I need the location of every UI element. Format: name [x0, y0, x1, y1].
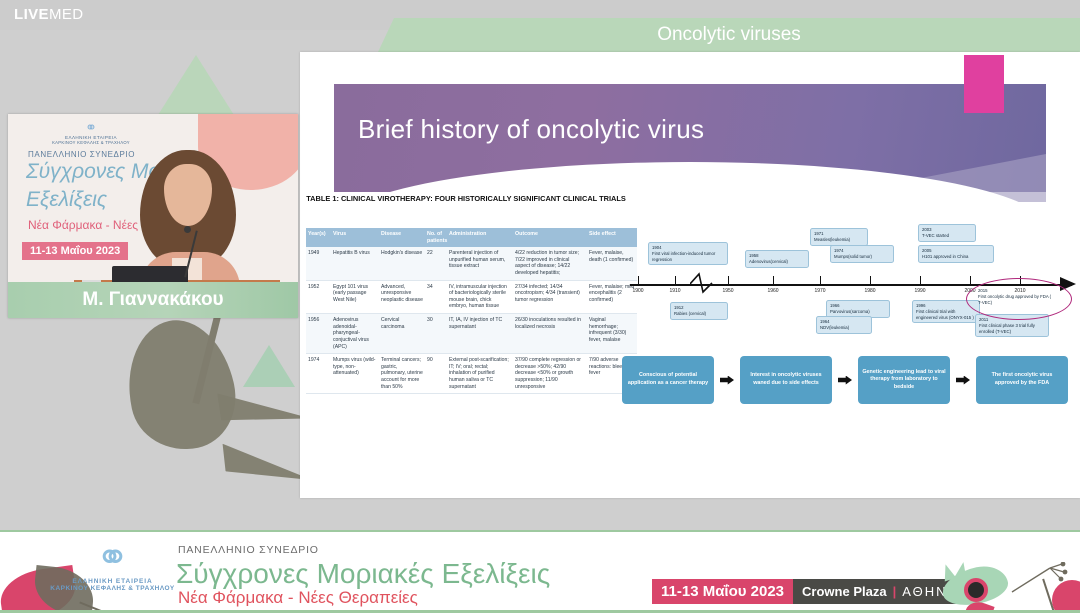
footer-society-line-1: ΕΛΛΗΝΙΚΗ ΕΤΑΙΡΕΙΑ [40, 578, 185, 585]
cell-year: 1974 [306, 354, 331, 394]
event-text: NDV(leukemia) [820, 325, 849, 330]
col-disease: Disease [379, 228, 425, 247]
society-line-2: ΚΑΡΚΙΝΟΥ ΚΕΦΑΛΗΣ & ΤΡΑΧΗΛΟΥ [36, 140, 146, 145]
axis-tick-label: 1950 [722, 288, 733, 294]
axis-tick [675, 276, 676, 285]
conference-footer-banner: ⚭ ΕΛΛΗΝΙΚΗ ΕΤΑΙΡΕΙΑ ΚΑΡΚΙΝΟΥ ΚΕΦΑΛΗΣ & Τ… [0, 530, 1080, 613]
timeline-event-2003: 2003 T-VEC started [918, 224, 976, 242]
cell-disease: Advanced, unresponsive neoplastic diseas… [379, 280, 425, 313]
table-caption: TABLE 1: CLINICAL VIROTHERAPY: FOUR HIST… [306, 194, 626, 205]
flow-arrow-right-icon [950, 376, 976, 385]
cell-administration: External post-scarification; IT; IV; ora… [447, 354, 513, 394]
footer-society-logo: ⚭ ΕΛΛΗΝΙΚΗ ΕΤΑΙΡΕΙΑ ΚΑΡΚΙΝΟΥ ΚΕΦΑΛΗΣ & Τ… [40, 540, 185, 592]
timeline-event-1958: 1958 Adenovirus(cervical) [745, 250, 809, 268]
footer-venue: Crowne Plaza [802, 584, 887, 599]
table-row: 1949 Hepatitis B virus Hodgkin's disease… [306, 247, 637, 280]
slide-viewer[interactable]: Brief history of oncolytic virus TABLE 1… [300, 52, 1080, 498]
table-row: 1974 Mumps virus (wild-type, non-attenua… [306, 354, 637, 394]
flow-step-4: The first oncolytic virus approved by th… [976, 356, 1068, 404]
cell-virus: Hepatitis B virus [331, 247, 379, 280]
backdrop-kicker: ΠΑΝΕΛΛΗΝΙΟ ΣΥΝΕΔΡΙΟ [28, 150, 135, 159]
session-title: Oncolytic viruses [657, 24, 801, 46]
timeline-event-1974: 1974 Mumps(solid tumor) [830, 245, 894, 263]
flow-arrow-right-icon [714, 376, 740, 385]
col-patients: No. of patients [425, 228, 447, 247]
axis-tick-label: 1910 [669, 288, 680, 294]
cell-patients: 22 [425, 247, 447, 280]
footer-venue-block: Crowne Plaza | ΑΘΗΝΑ [793, 579, 967, 604]
footer-date: 11-13 Μαΐου 2023 [652, 579, 793, 604]
society-mark-icon: ⚭ [40, 540, 185, 577]
cell-virus: Egypt 101 virus (early passage West Nile… [331, 280, 379, 313]
axis-tick-label: 1980 [864, 288, 875, 294]
decor-banner-swoosh [796, 154, 1046, 202]
footer-society-line-2: ΚΑΡΚΙΝΟΥ ΚΕΦΑΛΗΣ & ΤΡΑΧΗΛΟΥ [40, 585, 185, 592]
axis-tick [920, 276, 921, 285]
cell-virus: Adenovirus adenoidal-pharyngeal-conjucti… [331, 314, 379, 354]
cell-virus: Mumps virus (wild-type, non-attenuated) [331, 354, 379, 394]
table-header-row: Year(s) Virus Disease No. of patients Ad… [306, 228, 637, 247]
event-text: Adenovirus(cervical) [749, 259, 788, 264]
cell-disease: Terminal cancers; gastric, pulmonary, ut… [379, 354, 425, 394]
highlight-ellipse [966, 278, 1072, 320]
flow-step-3: Genetic engineering lead to viral therap… [858, 356, 950, 404]
backdrop-title-line-2: Εξελίξεις [26, 188, 107, 212]
timeline-event-1964: 1964 NDV(leukemia) [816, 316, 872, 334]
event-text: First clinical trial with engineered vir… [916, 309, 974, 320]
axis-tick [638, 276, 639, 285]
cell-year: 1949 [306, 247, 331, 280]
event-text: First clinical phase 3 trial fully enrol… [979, 323, 1035, 334]
cell-outcome: 4/22 reduction in tumor size; 7/22 impro… [513, 247, 587, 280]
timeline-event-2005: 2005 H101 approved in China [918, 245, 994, 263]
oncolytic-history-flow: Conscious of potential application as a … [622, 352, 1074, 408]
decor-leaf-accent [243, 345, 295, 387]
decor-leaf-blob [116, 311, 246, 460]
timeline-event-1971: 1971 Measles(leukemia) [810, 228, 868, 246]
cell-patients: 34 [425, 280, 447, 313]
session-title-band: Oncolytic viruses [378, 18, 1080, 52]
decor-magenta-rectangle [964, 55, 1004, 113]
flow-step-2: Interest in oncolytic viruses waned due … [740, 356, 832, 404]
footer-subtitle: Νέα Φάρμακα - Νέες Θεραπείες [178, 588, 418, 608]
logo-light-text: MED [49, 6, 84, 23]
axis-tick [728, 276, 729, 285]
timeline-event-1966: 1966 Parvovirus(sarcoma) [826, 300, 890, 318]
event-text: Mumps(solid tumor) [834, 254, 872, 259]
virotherapy-table: Year(s) Virus Disease No. of patients Ad… [306, 228, 637, 394]
axis-break-icon [690, 272, 714, 294]
event-text: H101 approved in China [922, 254, 968, 259]
axis-tick-label: 1900 [632, 288, 643, 294]
footer-title: Σύγχρονες Μοριακές Εξελίξεις [176, 558, 550, 590]
footer-date-venue: 11-13 Μαΐου 2023 Crowne Plaza | ΑΘΗΝΑ [652, 579, 967, 604]
cell-administration: IT, IA, IV injection of TC supernatant [447, 314, 513, 354]
table-body: 1949 Hepatitis B virus Hodgkin's disease… [306, 247, 637, 393]
axis-tick [970, 276, 971, 285]
cell-disease: Hodgkin's disease [379, 247, 425, 280]
event-text: Measles(leukemia) [814, 237, 850, 242]
flow-arrow-right-icon [832, 376, 858, 385]
cell-administration: Parenteral injection of unpurified human… [447, 247, 513, 280]
society-mark-icon: ⚭ [36, 120, 146, 134]
backdrop-society-logo: ⚭ ΕΛΛΗΝΙΚΗ ΕΤΑΙΡΕΙΑ ΚΑΡΚΙΝΟΥ ΚΕΦΑΛΗΣ & Τ… [36, 120, 146, 145]
decor-leaf-spike-1 [214, 393, 313, 432]
event-text: Rabies (cervical) [674, 311, 706, 316]
timeline-event-1904: 1904 First viral infection-induced tumor… [648, 242, 728, 265]
axis-tick-label: 1960 [767, 288, 778, 294]
cell-outcome: 37/90 complete regression or decrease >5… [513, 354, 587, 394]
cell-year: 1952 [306, 280, 331, 313]
cell-administration: IV, intramuscular injection of bacteriol… [447, 280, 513, 313]
microphone-icon [184, 226, 191, 233]
table-row: 1956 Adenovirus adenoidal-pharyngeal-con… [306, 314, 637, 354]
cell-patients: 90 [425, 354, 447, 394]
axis-tick-label: 1970 [814, 288, 825, 294]
footer-separator: | [893, 584, 897, 599]
axis-tick [820, 276, 821, 285]
footer-kicker: ΠΑΝΕΛΛΗΝΙΟ ΣΥΝΕΔΡΙΟ [178, 544, 319, 556]
cell-outcome: 27/34 infected; 14/34 oncotropism; 4/34 … [513, 280, 587, 313]
cell-patients: 30 [425, 314, 447, 354]
table-head: Year(s) Virus Disease No. of patients Ad… [306, 228, 637, 247]
event-text: Parvovirus(sarcoma) [830, 309, 870, 314]
cell-disease: Cervical carcinoma [379, 314, 425, 354]
decor-footer-whiskers [1010, 562, 1070, 602]
event-text: First viral infection-induced tumor regr… [652, 251, 715, 262]
flow-step-1: Conscious of potential application as a … [622, 356, 714, 404]
oncolytic-virus-timeline: 1900 1910 1950 1960 1970 1980 1990 2000 … [630, 220, 1072, 340]
axis-tick [773, 276, 774, 285]
col-virus: Virus [331, 228, 379, 247]
slide-title: Brief history of oncolytic virus [358, 114, 998, 145]
event-text: T-VEC started [922, 233, 949, 238]
timeline-event-1912: 1912 Rabies (cervical) [670, 302, 728, 320]
livemed-logo[interactable]: LIVEMED [14, 6, 84, 23]
cell-year: 1956 [306, 314, 331, 354]
axis-tick [870, 276, 871, 285]
axis-tick-label: 1990 [914, 288, 925, 294]
col-year: Year(s) [306, 228, 331, 247]
speaker-name-banner: Μ. Γιαννακάκου [8, 282, 298, 318]
col-administration: Administration [447, 228, 513, 247]
col-outcome: Outcome [513, 228, 587, 247]
backdrop-date: 11-13 Μαΐου 2023 [22, 242, 128, 260]
decor-footer-cat-eye [964, 578, 988, 602]
table-row: 1952 Egypt 101 virus (early passage West… [306, 280, 637, 313]
logo-bold-text: LIVE [14, 6, 49, 23]
cell-outcome: 26/30 inoculations resulted in localized… [513, 314, 587, 354]
